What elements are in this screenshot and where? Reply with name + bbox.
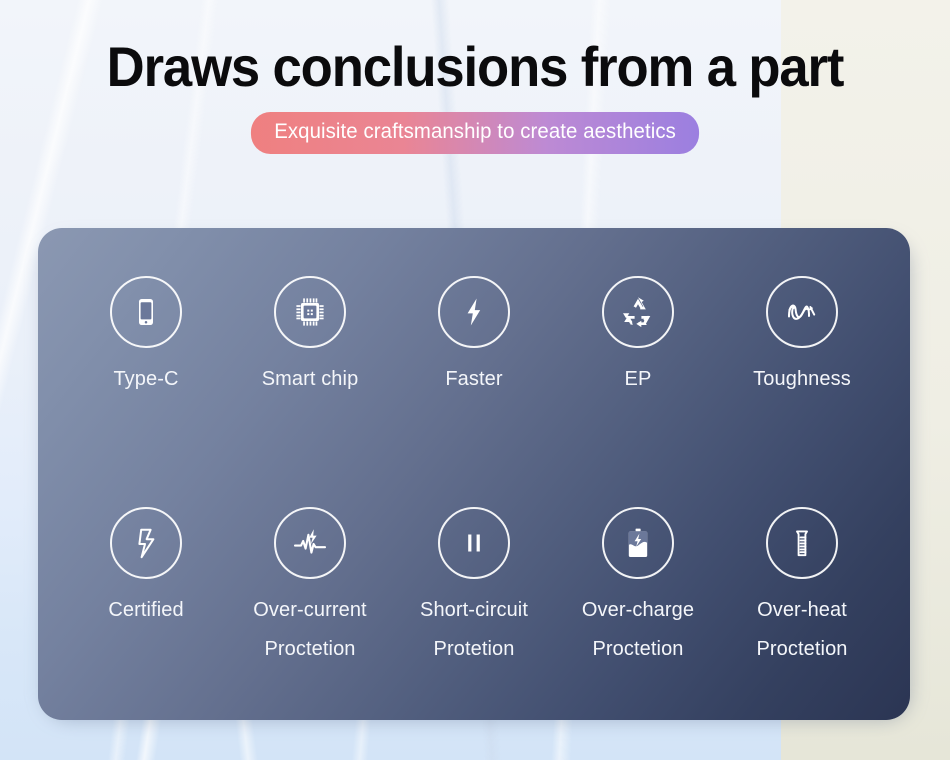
feature-label: Toughness — [753, 366, 851, 392]
recycle-icon — [602, 276, 674, 348]
feature-label: EP — [625, 366, 652, 392]
feature-label: Smart chip — [262, 366, 359, 392]
subtitle-badge: Exquisite craftsmanship to create aesthe… — [251, 112, 699, 154]
promo-page: Draws conclusions from a part Exquisite … — [0, 0, 950, 760]
subtitle-container: Exquisite craftsmanship to create aesthe… — [0, 112, 950, 154]
feature-label: Over-current — [253, 597, 366, 623]
chip-icon — [274, 276, 346, 348]
feature-label-line2: Proctetion — [264, 636, 355, 662]
feature-row-1: Type-C — [64, 276, 884, 431]
feature-label-line2: Proctetion — [592, 636, 683, 662]
feature-label: Over-charge — [582, 597, 694, 623]
feature-certified[interactable]: Certified — [64, 507, 228, 662]
feature-grid: Type-C — [38, 228, 910, 720]
feature-label: Short-circuit — [420, 597, 528, 623]
feature-label: Type-C — [113, 366, 178, 392]
thermometer-icon — [766, 507, 838, 579]
battery-charge-icon — [602, 507, 674, 579]
header: Draws conclusions from a part Exquisite … — [0, 0, 950, 154]
feature-card: Type-C — [38, 228, 910, 720]
certified-bolt-icon — [110, 507, 182, 579]
feature-toughness[interactable]: Toughness — [720, 276, 884, 431]
feature-ep[interactable]: EP — [556, 276, 720, 431]
feature-label-line2: Protetion — [434, 636, 515, 662]
feature-label: Certified — [108, 597, 183, 623]
feature-over-current[interactable]: Over-current Proctetion — [228, 507, 392, 662]
spring-coil-icon — [766, 276, 838, 348]
feature-label: Over-heat — [757, 597, 847, 623]
feature-type-c[interactable]: Type-C — [64, 276, 228, 431]
feature-label: Faster — [445, 366, 502, 392]
feature-over-heat[interactable]: Over-heat Proctetion — [720, 507, 884, 662]
feature-short-circuit[interactable]: Short-circuit Protetion — [392, 507, 556, 662]
feature-faster[interactable]: Faster — [392, 276, 556, 431]
pulse-bolt-icon — [274, 507, 346, 579]
smartphone-icon — [110, 276, 182, 348]
lightning-bolt-icon — [438, 276, 510, 348]
feature-smart-chip[interactable]: Smart chip — [228, 276, 392, 431]
feature-row-2: Certified Over-current Proctetion — [64, 507, 884, 662]
feature-label-line2: Proctetion — [756, 636, 847, 662]
feature-over-charge[interactable]: Over-charge Proctetion — [556, 507, 720, 662]
pause-bars-icon — [438, 507, 510, 579]
page-title: Draws conclusions from a part — [29, 0, 922, 100]
